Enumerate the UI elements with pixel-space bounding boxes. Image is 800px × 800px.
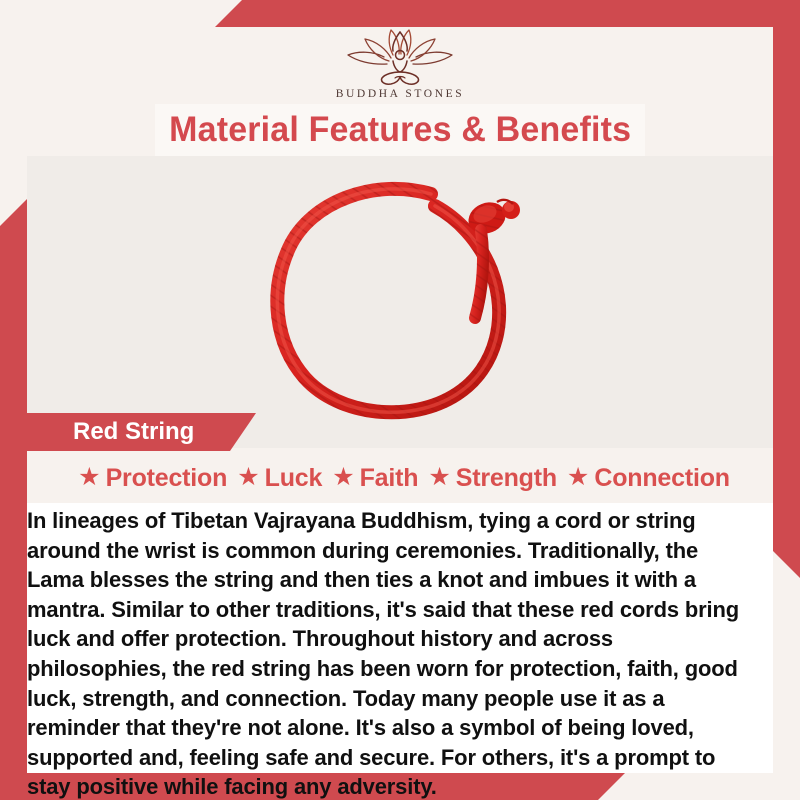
benefit-label: Luck [265, 464, 323, 493]
decor-band-top [215, 0, 800, 27]
material-ribbon: Red String [27, 413, 256, 451]
benefits-row: ★ Protection ★ Luck ★ Faith ★ Strength ★… [27, 459, 773, 497]
material-name: Red String [73, 418, 194, 446]
benefit-item: ★ Connection [559, 464, 730, 493]
page-title: Material Features & Benefits [169, 110, 631, 150]
decor-band-left [0, 199, 27, 800]
star-icon: ★ [332, 465, 354, 490]
benefit-item: ★ Faith [324, 464, 418, 493]
benefit-item: ★ Luck [229, 464, 322, 493]
star-icon: ★ [567, 465, 589, 490]
infographic-poster: BUDDHA STONES Material Features & Benefi… [0, 0, 800, 800]
benefit-label: Protection [106, 464, 228, 493]
title-banner: Material Features & Benefits [155, 104, 645, 156]
lotus-meditation-icon [341, 29, 459, 87]
benefit-label: Faith [360, 464, 419, 493]
brand-name: BUDDHA STONES [336, 88, 464, 100]
decor-band-right [773, 0, 800, 578]
benefit-label: Connection [594, 464, 730, 493]
description-paragraph: In lineages of Tibetan Vajrayana Buddhis… [27, 506, 756, 800]
star-icon: ★ [428, 465, 450, 490]
benefit-item: ★ Strength [420, 464, 557, 493]
benefit-item: ★ Protection [70, 464, 227, 493]
star-icon: ★ [78, 465, 100, 490]
poster-content: BUDDHA STONES Material Features & Benefi… [27, 27, 773, 773]
hero-image-area [27, 156, 773, 448]
description-area: In lineages of Tibetan Vajrayana Buddhis… [27, 503, 773, 773]
brand-header: BUDDHA STONES [27, 27, 773, 109]
star-icon: ★ [237, 465, 259, 490]
benefit-label: Strength [456, 464, 557, 493]
